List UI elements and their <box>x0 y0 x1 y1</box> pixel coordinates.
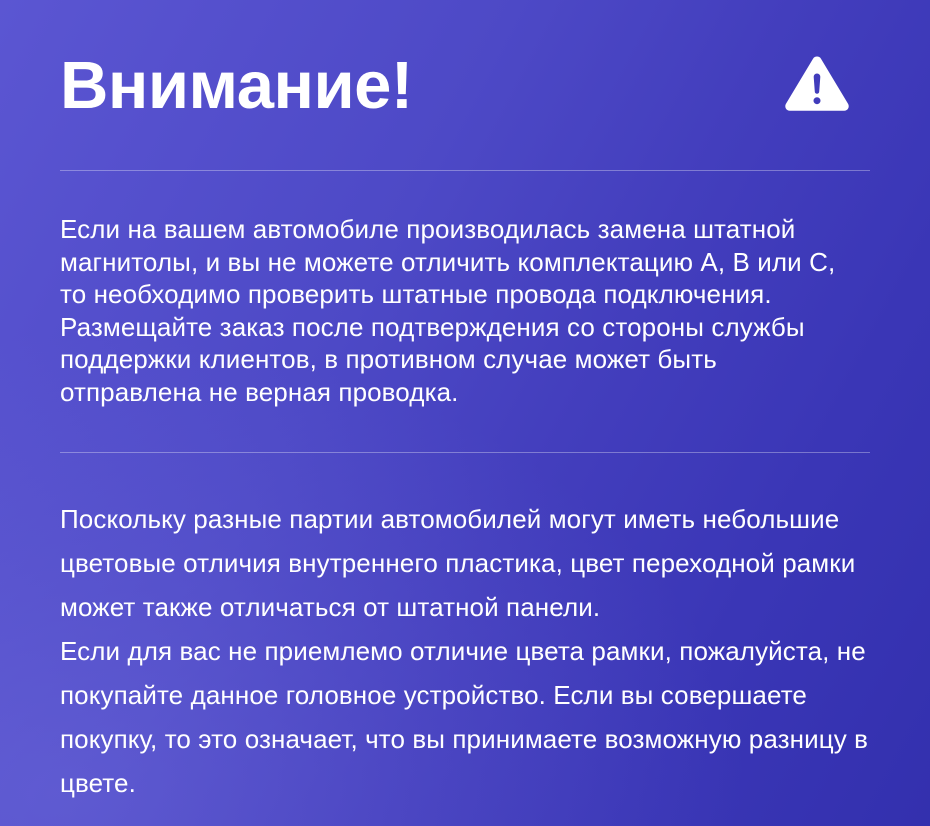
notice-paragraph: Если на вашем автомобиле производилась з… <box>60 213 860 408</box>
banner-content: Внимание! Если на вашем автомобиле произ… <box>0 0 930 805</box>
notice-paragraph: Поскольку разные партии автомобилей могу… <box>60 497 870 629</box>
warning-triangle-icon <box>784 55 850 115</box>
page-title: Внимание! <box>60 52 413 119</box>
notice-paragraph: Если для вас не приемлемо отличие цвета … <box>60 629 870 805</box>
section-color-difference-notice: Поскольку разные партии автомобилей могу… <box>60 453 870 805</box>
warning-banner: Внимание! Если на вашем автомобиле произ… <box>0 0 930 826</box>
banner-header: Внимание! <box>60 0 870 170</box>
section-radio-replacement-notice: Если на вашем автомобиле производилась з… <box>60 171 870 452</box>
